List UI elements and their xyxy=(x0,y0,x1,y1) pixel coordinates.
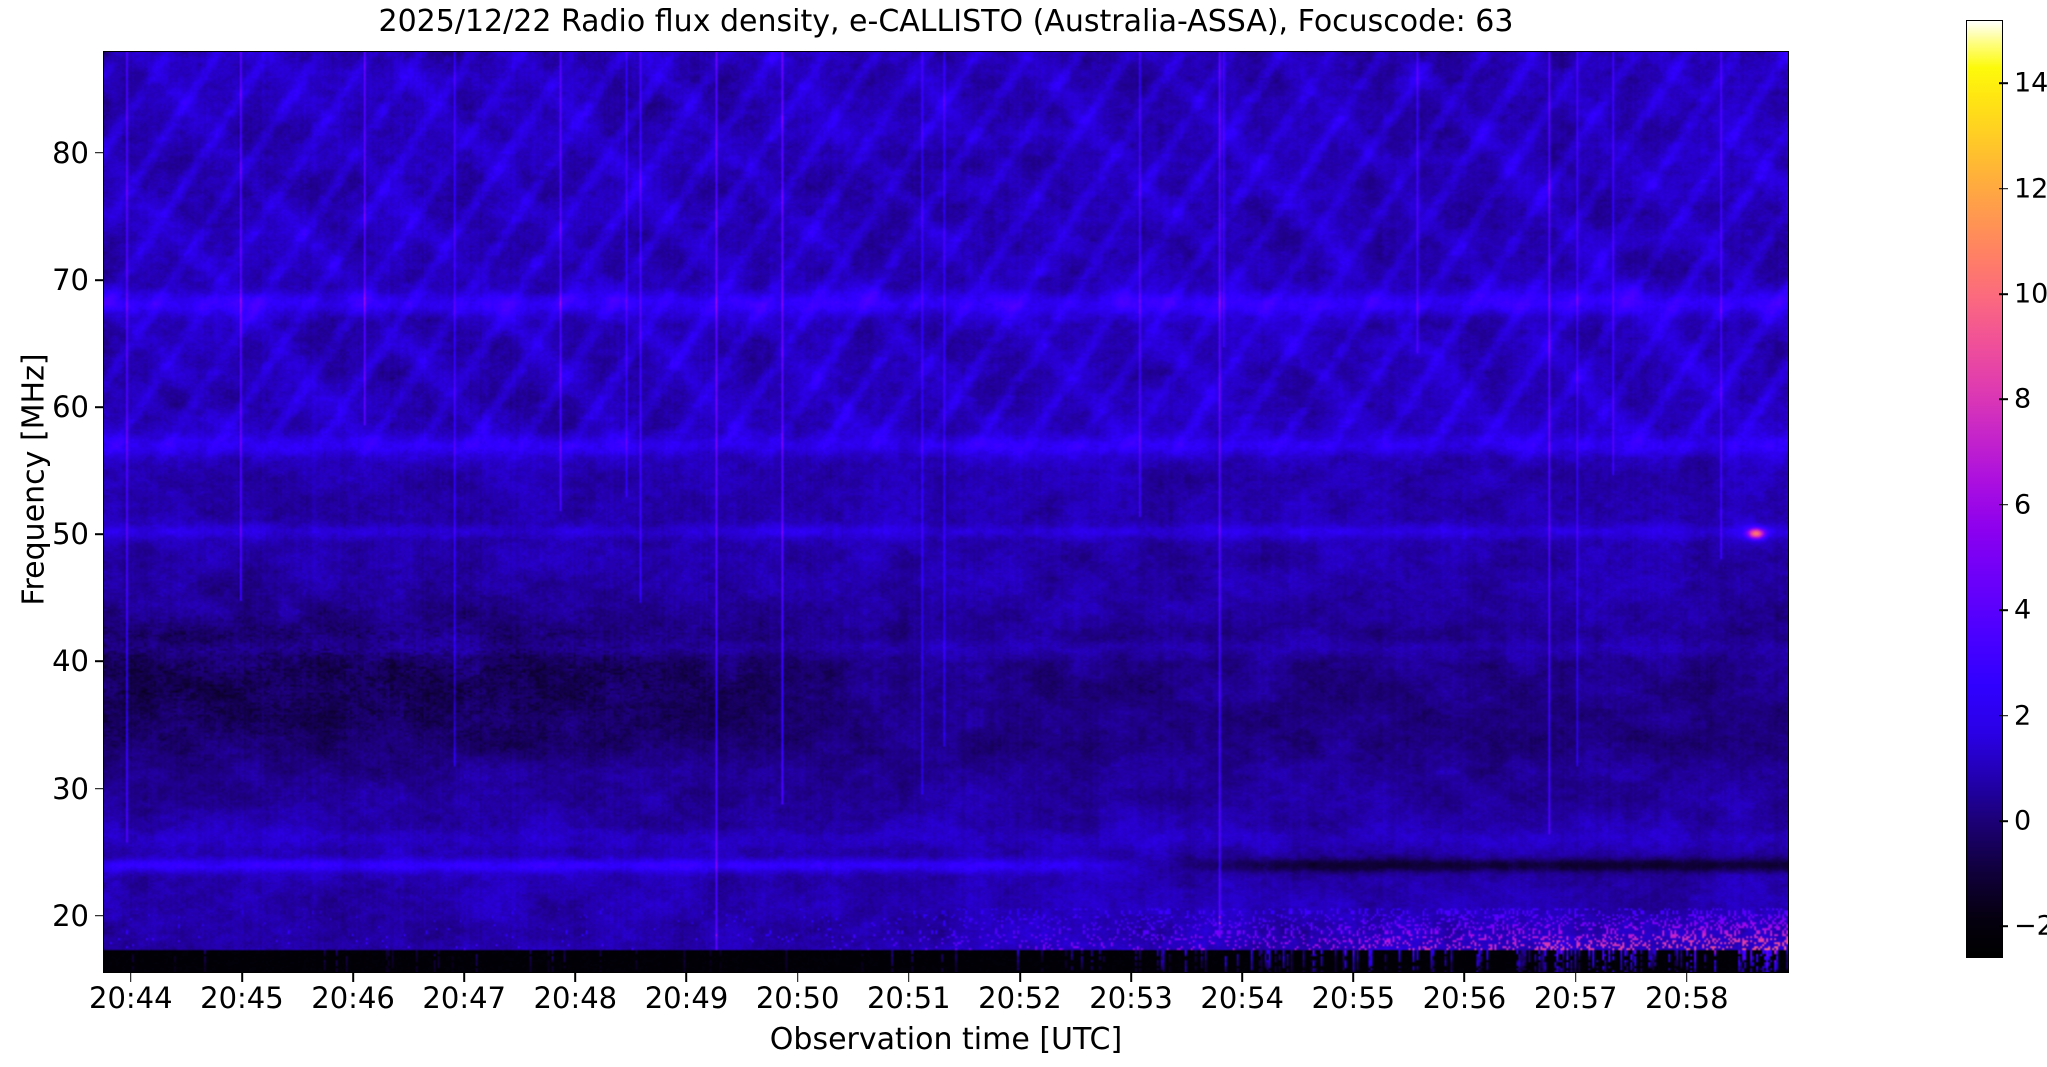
x-axis-label: Observation time [UTC] xyxy=(103,1022,1789,1057)
colorbar-tick-label: 10 xyxy=(2014,279,2047,310)
x-tick-label-20-50: 20:50 xyxy=(756,981,840,1015)
colorbar-tick-label: 8 xyxy=(2014,384,2031,415)
colorbar-tick-mark xyxy=(1999,820,2008,822)
x-tick-label-20-53: 20:53 xyxy=(1089,981,1173,1015)
x-tick-label-20-46: 20:46 xyxy=(311,981,395,1015)
x-tick-label-20-49: 20:49 xyxy=(645,981,729,1015)
x-tick-label-20-47: 20:47 xyxy=(422,981,506,1015)
colorbar-tick-mark xyxy=(1999,609,2008,611)
x-tick-label-20-58: 20:58 xyxy=(1645,981,1729,1015)
x-tick-label-20-44: 20:44 xyxy=(89,981,173,1015)
colorbar-tick-mark xyxy=(1999,399,2008,401)
colorbar-tick-label: 6 xyxy=(2014,489,2031,520)
x-tick-label-20-54: 20:54 xyxy=(1200,981,1284,1015)
x-tick-label-20-56: 20:56 xyxy=(1423,981,1507,1015)
colorbar-tick-label: −2 xyxy=(2014,911,2047,942)
x-axis: 20:4420:4520:4620:4720:4820:4920:5020:51… xyxy=(0,0,2047,1067)
colorbar-tick-label: 4 xyxy=(2014,595,2031,626)
x-tick-label-20-52: 20:52 xyxy=(978,981,1062,1015)
colorbar-tick-label: 0 xyxy=(2014,805,2031,836)
colorbar-tick-label: 12 xyxy=(2014,173,2047,204)
colorbar-tick-mark xyxy=(1999,715,2008,717)
x-tick-label-20-45: 20:45 xyxy=(200,981,284,1015)
figure-canvas: 2025/12/22 Radio flux density, e-CALLIST… xyxy=(0,0,2047,1067)
colorbar-tick-label: 14 xyxy=(2014,68,2047,99)
colorbar[interactable] xyxy=(1966,20,2003,958)
colorbar-tick-mark xyxy=(1999,926,2008,928)
x-tick-label-20-55: 20:55 xyxy=(1312,981,1396,1015)
colorbar-tick-mark xyxy=(1999,504,2008,506)
x-tick-label-20-57: 20:57 xyxy=(1534,981,1618,1015)
colorbar-tick-mark xyxy=(1999,188,2008,190)
y-axis-label: Frequency [MHz] xyxy=(17,250,52,710)
x-tick-label-20-48: 20:48 xyxy=(534,981,618,1015)
colorbar-tick-label: 2 xyxy=(2014,700,2031,731)
colorbar-tick-mark xyxy=(1999,293,2008,295)
x-tick-label-20-51: 20:51 xyxy=(867,981,951,1015)
colorbar-tick-mark xyxy=(1999,82,2008,84)
